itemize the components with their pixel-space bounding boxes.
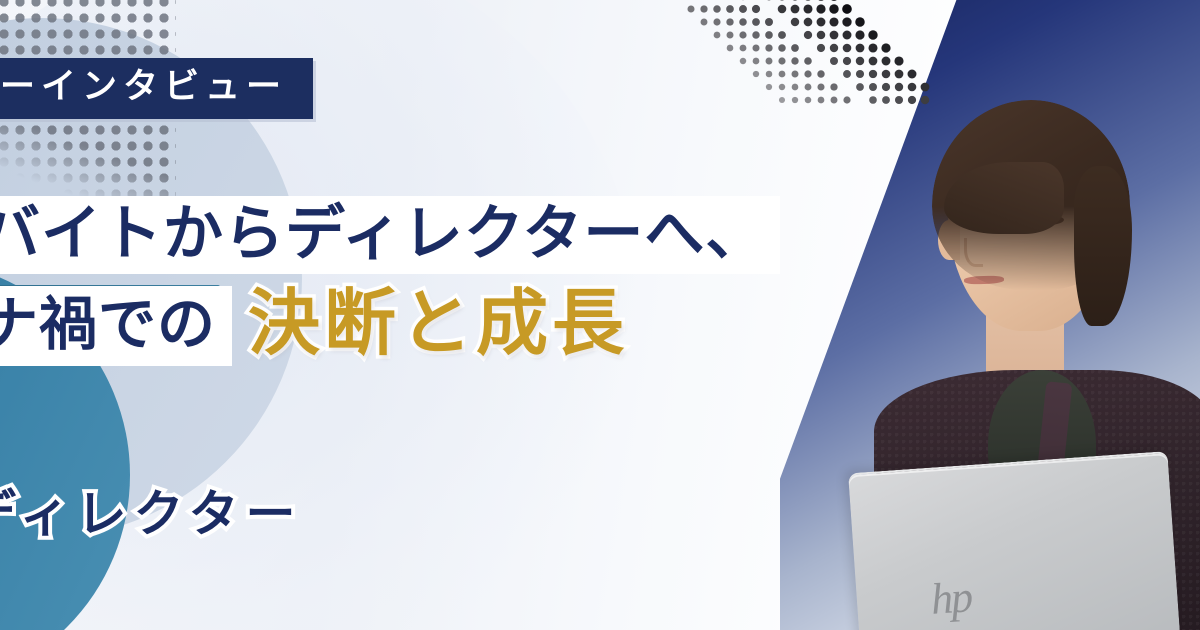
role-label: ディレクター bbox=[0, 474, 303, 546]
headline-line-2-accent: 決断と成長 bbox=[248, 288, 628, 364]
interview-banner: hp ーインタビュー バイトからディレクターへ、 ナ禍での 決断と成長 ディレク… bbox=[0, 0, 1200, 630]
portrait-hair-side bbox=[1074, 166, 1132, 326]
hp-logo: hp bbox=[930, 575, 973, 622]
halftone-dot-grid-top bbox=[0, 0, 176, 56]
laptop-lid: hp bbox=[848, 451, 1180, 630]
headline-line-2-row: ナ禍での 決断と成長 bbox=[0, 286, 826, 366]
headline-line-1: バイトからディレクターへ、 bbox=[0, 196, 780, 274]
headline-block: バイトからディレクターへ、 ナ禍での 決断と成長 bbox=[0, 196, 826, 366]
laptop-lid-edge bbox=[848, 453, 1180, 630]
headline-line-2-prefix: ナ禍での bbox=[0, 286, 232, 366]
category-badge: ーインタビュー bbox=[0, 58, 313, 119]
halftone-dot-grid-mid bbox=[0, 122, 176, 200]
